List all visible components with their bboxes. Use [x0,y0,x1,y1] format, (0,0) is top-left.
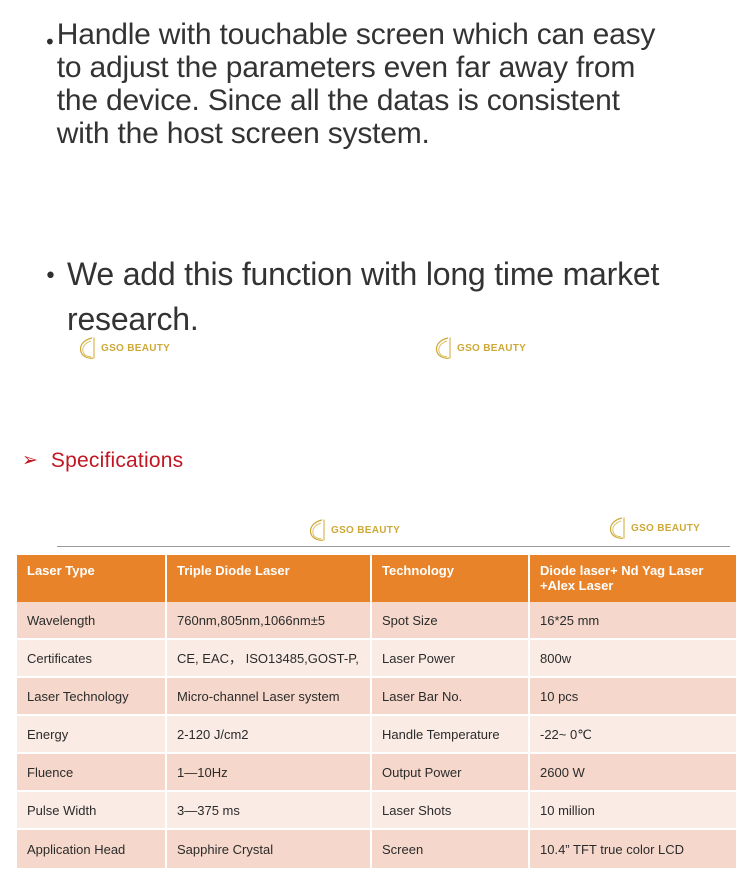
section-heading-specifications: ➢ Specifications [22,450,183,471]
bullet-marker-icon: • [44,18,56,52]
bullet-text-1: Handle with touchable screen which can e… [57,18,679,150]
table-cell: 760nm,805nm,1066nm±5 [167,602,372,640]
table-cell: Fluence [17,754,167,792]
section-heading-label: Specifications [51,450,183,471]
table-header-row: Laser Type Triple Diode Laser Technology… [17,555,736,602]
table-row: Energy 2-120 J/cm2 Handle Temperature -2… [17,716,736,754]
table-cell: Handle Temperature [372,716,530,754]
gso-crescent-icon [308,518,330,542]
watermark-text: GSO BEAUTY [331,525,400,536]
table-cell: Output Power [372,754,530,792]
arrow-bullet-icon: ➢ [22,451,38,470]
table-header-cell: Laser Type [17,555,167,602]
table-cell: 1—10Hz [167,754,372,792]
table-cell: Application Head [17,830,167,868]
table-row: Laser Technology Micro-channel Laser sys… [17,678,736,716]
table-header-cell: Technology [372,555,530,602]
table-cell: -22~ 0℃ [530,716,736,754]
table-cell: 2-120 J/cm2 [167,716,372,754]
specifications-table: Laser Type Triple Diode Laser Technology… [17,555,736,868]
table-cell: 2600 W [530,754,736,792]
table-row: Fluence 1—10Hz Output Power 2600 W [17,754,736,792]
table-cell: Pulse Width [17,792,167,830]
watermark-text: GSO BEAUTY [101,343,170,354]
table-row: Application Head Sapphire Crystal Screen… [17,830,736,868]
table-cell: Wavelength [17,602,167,640]
table-cell: 10 million [530,792,736,830]
table-cell: 10.4” TFT true color LCD [530,830,736,868]
table-cell: Laser Power [372,640,530,678]
watermark-text: GSO BEAUTY [631,523,700,534]
table-cell: CE, EAC， ISO13485,GOST-P, [167,640,372,678]
table-cell: Laser Bar No. [372,678,530,716]
watermark-text: GSO BEAUTY [457,343,526,354]
table-cell: Laser Technology [17,678,167,716]
bullet-paragraph-1: • Handle with touchable screen which can… [44,18,704,150]
table-cell: 3—375 ms [167,792,372,830]
table-row: Certificates CE, EAC， ISO13485,GOST-P, L… [17,640,736,678]
watermark-logo: GSO BEAUTY [308,518,400,542]
watermark-logo: GSO BEAUTY [608,516,700,540]
table-row: Wavelength 760nm,805nm,1066nm±5 Spot Siz… [17,602,736,640]
table-cell: 16*25 mm [530,602,736,640]
bullet-paragraph-2: • We add this function with long time ma… [44,252,704,342]
table-header-cell: Diode laser+ Nd Yag Laser +Alex Laser [530,555,736,602]
bullet-text-2: We add this function with long time mark… [67,252,667,342]
table-row: Pulse Width 3—375 ms Laser Shots 10 mill… [17,792,736,830]
table-cell: Spot Size [372,602,530,640]
table-cell: 10 pcs [530,678,736,716]
bullet-marker-icon: • [44,252,57,288]
table-cell: Micro-channel Laser system [167,678,372,716]
table-cell: Laser Shots [372,792,530,830]
table-cell: Sapphire Crystal [167,830,372,868]
table-cell: Certificates [17,640,167,678]
table-header-cell: Triple Diode Laser [167,555,372,602]
table-cell: Energy [17,716,167,754]
gso-crescent-icon [608,516,630,540]
table-cell: Screen [372,830,530,868]
horizontal-divider [57,546,730,547]
table-cell: 800w [530,640,736,678]
